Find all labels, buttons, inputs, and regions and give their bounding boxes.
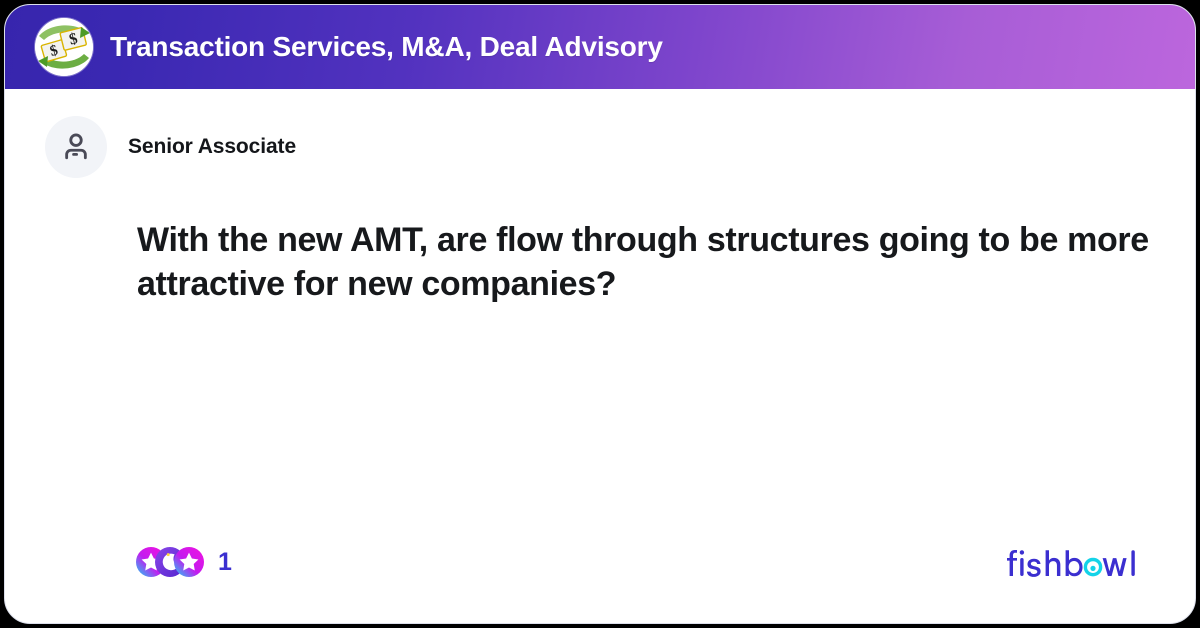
money-exchange-bowl-icon: $ $ bbox=[35, 18, 93, 76]
reactions[interactable]: 1 bbox=[136, 547, 232, 577]
post-text: With the new AMT, are flow through struc… bbox=[137, 219, 1151, 306]
author-name: Senior Associate bbox=[128, 135, 296, 159]
fishbowl-o-accent bbox=[1085, 560, 1100, 575]
star-reaction-icon[interactable] bbox=[174, 547, 204, 577]
avatar bbox=[45, 116, 107, 178]
reaction-count: 1 bbox=[218, 548, 232, 577]
fishbowl-logo bbox=[1007, 540, 1149, 584]
card-footer: 1 bbox=[5, 519, 1195, 623]
post-card: $ $ Transaction Services, M&A, Deal Advi… bbox=[4, 4, 1196, 624]
reaction-badge-stack[interactable] bbox=[136, 547, 204, 577]
bowl-header[interactable]: $ $ Transaction Services, M&A, Deal Advi… bbox=[5, 5, 1195, 89]
bowl-title: Transaction Services, M&A, Deal Advisory bbox=[110, 31, 663, 63]
post-body: Senior Associate With the new AMT, are f… bbox=[5, 89, 1195, 623]
author-row[interactable]: Senior Associate bbox=[45, 115, 1151, 179]
person-icon bbox=[59, 130, 93, 164]
